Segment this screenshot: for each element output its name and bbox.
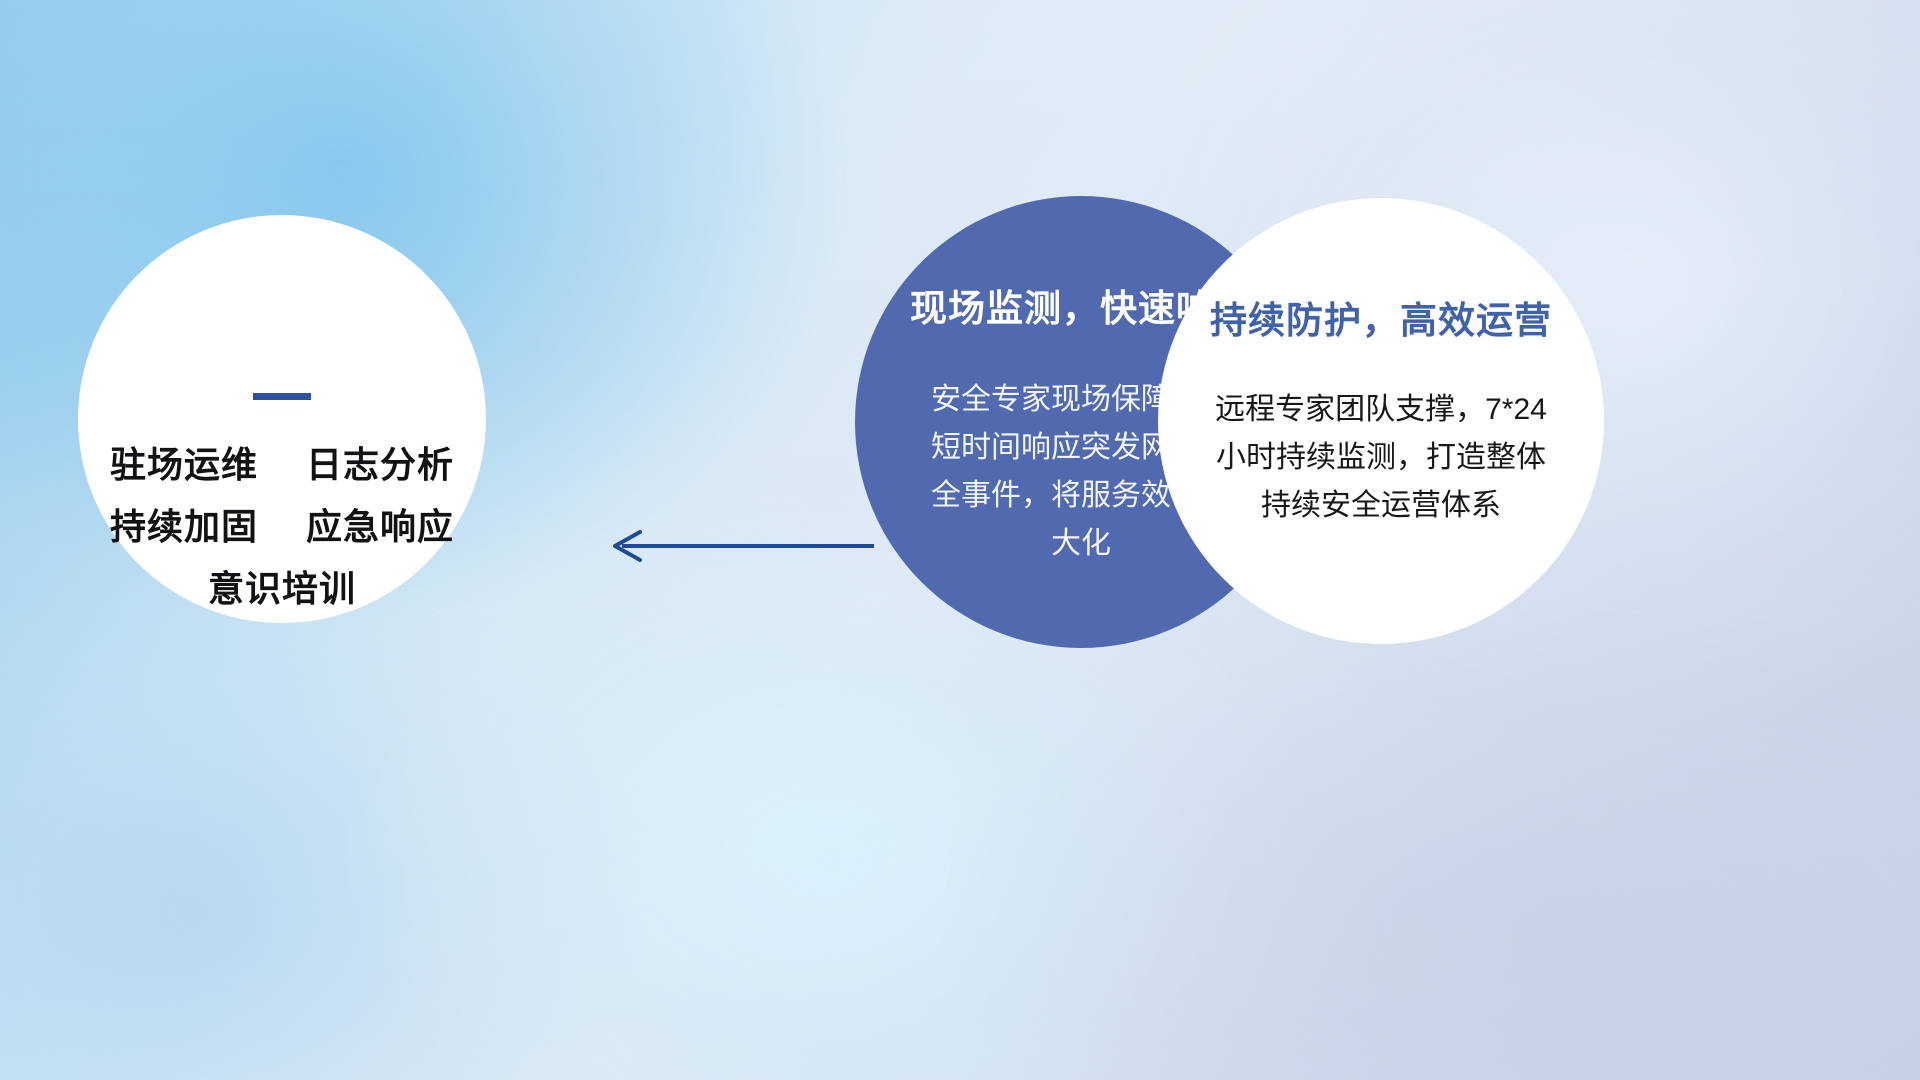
capability-tag: 持续加固 — [110, 506, 258, 547]
capability-tag-row: 持续加固 应急响应 — [78, 496, 486, 558]
connector-arrow — [600, 524, 875, 568]
slide-canvas: 驻场运维 日志分析 持续加固 应急响应 意识培训 现场监测，快速响应 安全专家现… — [0, 0, 1920, 1080]
capability-tag: 意识培训 — [208, 568, 356, 609]
capability-tag: 日志分析 — [306, 444, 454, 485]
continuous-protection-circle: 持续防护，高效运营 远程专家团队支撑，7*24小时持续监测，打造整体持续安全运营… — [1158, 198, 1604, 644]
capability-tag: 驻场运维 — [110, 444, 258, 485]
divider-dash — [253, 393, 311, 400]
capability-tag-list: 驻场运维 日志分析 持续加固 应急响应 意识培训 — [78, 434, 486, 620]
capability-tag-row: 意识培训 — [78, 558, 486, 620]
capability-tag: 应急响应 — [306, 506, 454, 547]
capability-tag-row: 驻场运维 日志分析 — [78, 434, 486, 496]
capabilities-circle: 驻场运维 日志分析 持续加固 应急响应 意识培训 — [78, 215, 486, 623]
continuous-protection-title: 持续防护，高效运营 — [1210, 290, 1552, 344]
continuous-protection-body: 远程专家团队支撑，7*24小时持续监测，打造整体持续安全运营体系 — [1203, 386, 1559, 530]
